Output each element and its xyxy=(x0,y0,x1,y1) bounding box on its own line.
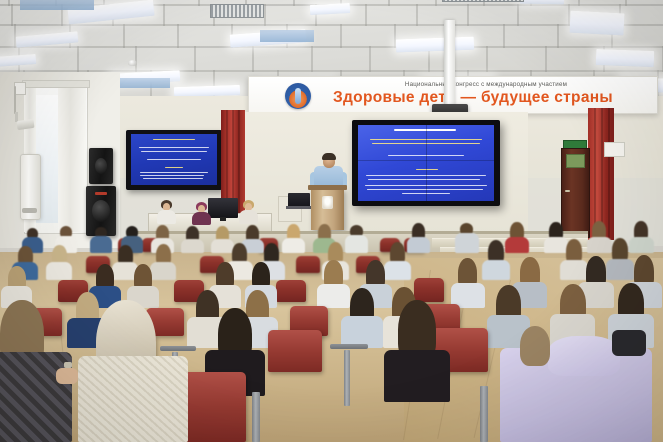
woman-in-floral-blouse xyxy=(78,356,188,442)
pa-speaker-logo xyxy=(95,192,107,195)
ceiling-tile xyxy=(503,24,559,48)
seat xyxy=(276,280,306,302)
presidium-monitor xyxy=(208,198,238,218)
speaker-hair xyxy=(322,153,336,160)
ceiling-light-panel xyxy=(596,49,655,67)
audience-torso xyxy=(606,259,634,280)
audience-torso xyxy=(455,233,479,253)
panelist-torso xyxy=(157,210,176,224)
banner-headline: Здоровые дети — будущее страны xyxy=(293,89,653,107)
ceiling-tile xyxy=(311,46,371,72)
ceiling-tile xyxy=(340,24,396,48)
audience-torso xyxy=(505,237,529,253)
audience-torso xyxy=(150,262,176,280)
ceiling-tile xyxy=(177,24,233,48)
ceiling-tile xyxy=(135,46,195,72)
ceiling-air-vent xyxy=(210,4,264,18)
audience-torso xyxy=(544,237,568,253)
door-sign xyxy=(566,154,585,168)
screen-seam-horizontal xyxy=(358,160,494,161)
held-pen xyxy=(64,362,72,368)
audience-torso xyxy=(46,262,72,280)
ceiling-tile xyxy=(163,4,216,26)
audience-torso xyxy=(560,260,588,280)
seat-leg xyxy=(480,386,488,442)
ceiling-light-panel xyxy=(569,11,624,36)
audience-torso xyxy=(345,235,368,253)
air-conditioner-vent xyxy=(22,208,37,213)
secondary-slide xyxy=(131,134,217,185)
ceiling-tile xyxy=(416,4,469,26)
foreground-hand xyxy=(56,368,78,384)
panelist-torso xyxy=(192,212,211,225)
ceiling-light-panel xyxy=(310,3,350,15)
audience-torso xyxy=(407,237,430,253)
ceiling-light-panel xyxy=(396,37,474,53)
smoke-detector-icon xyxy=(128,60,137,66)
neighbor-shoulder xyxy=(612,330,646,356)
audience-torso xyxy=(211,239,234,253)
seat xyxy=(268,330,322,372)
audience-torso xyxy=(629,237,654,253)
woman-in-plaid-jacket xyxy=(0,352,72,442)
window-curtain-right xyxy=(58,86,86,232)
ceiling-tile xyxy=(77,46,137,72)
pa-speaker-cone-top xyxy=(95,158,107,174)
armrest xyxy=(160,346,196,351)
lectern-laptop xyxy=(288,193,310,207)
ceiling-tile xyxy=(517,4,570,26)
ceiling-tile xyxy=(619,4,663,26)
hoodie-hood xyxy=(548,336,620,376)
door-handle xyxy=(565,190,570,192)
congress-emblem-figure xyxy=(295,88,301,104)
lectern-top xyxy=(308,185,347,190)
stage-curtain-right xyxy=(588,108,614,240)
screen-seam-vertical xyxy=(426,125,427,201)
audience-torso xyxy=(317,284,350,308)
lectern xyxy=(311,188,344,230)
monitor-stand xyxy=(220,217,226,221)
curtain-rail xyxy=(22,80,90,88)
ceiling-tile xyxy=(194,46,254,72)
wall-notice-sign xyxy=(604,142,625,157)
audience-torso xyxy=(181,239,204,253)
audience-torso xyxy=(282,238,305,253)
audience-torso xyxy=(482,260,510,280)
ceiling-tile xyxy=(486,46,546,72)
camera-cable xyxy=(14,86,16,114)
ceiling-tile xyxy=(252,46,312,72)
seat-leg xyxy=(344,350,350,406)
panelist-torso xyxy=(239,210,258,224)
ceiling-tile xyxy=(264,4,317,26)
audience-torso xyxy=(587,237,612,253)
audience-torso xyxy=(384,261,411,280)
state-emblem-icon xyxy=(322,196,333,209)
seat xyxy=(414,278,444,302)
projector-mount-pole xyxy=(444,20,455,106)
ceiling-light-panel xyxy=(520,0,564,4)
lectern-laptop-base xyxy=(286,206,312,209)
banner-subtitle: Национальный конгресс с международным уч… xyxy=(325,81,647,88)
ceiling-tile xyxy=(467,4,520,26)
ceiling-panel-tinted xyxy=(260,30,314,42)
ceiling-air-vent xyxy=(442,0,524,2)
ceiling-panel-tinted xyxy=(20,0,94,10)
pa-speaker-cone-bottom xyxy=(92,200,110,222)
foreground-hair xyxy=(520,326,550,366)
audience-torso xyxy=(90,236,112,253)
seat xyxy=(296,256,320,273)
ceiling-panel-tinted xyxy=(120,78,170,88)
auditorium-photo: Национальный конгресс с международным уч… xyxy=(0,0,663,442)
audience-torso xyxy=(384,350,450,402)
ceiling-tile xyxy=(123,24,179,48)
armrest xyxy=(330,344,368,349)
ceiling-tile xyxy=(365,4,418,26)
seat-leg xyxy=(252,392,260,442)
